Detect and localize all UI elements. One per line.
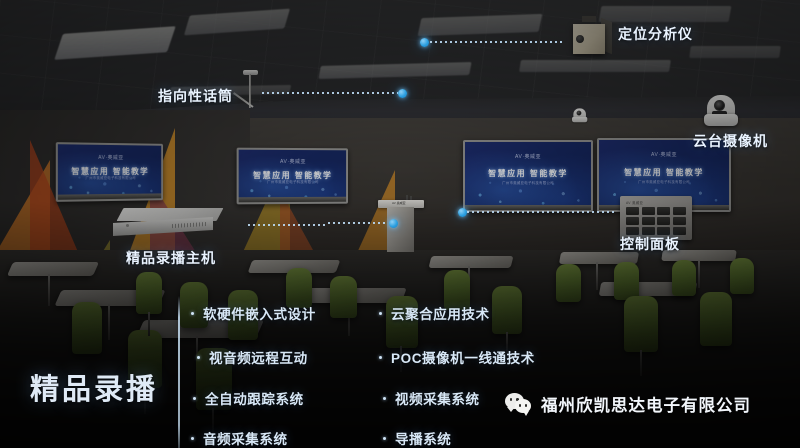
page-title: 精品录播 [30,366,158,408]
bullet-point-icon [191,437,194,440]
bullet-point-icon [379,312,382,315]
list-item: 视频采集系统 [383,388,480,408]
bullet-point-icon [191,312,194,315]
list-item-label: 全自动跟踪系统 [205,388,304,408]
list-item-label: 视频采集系统 [395,388,480,408]
list-item: 云聚合应用技术 [379,303,490,323]
list-item-label: 云聚合应用技术 [391,303,490,323]
callout-label-recorder-host: 精品录播主机 [126,248,216,268]
bullet-point-icon [383,437,386,440]
list-item: 全自动跟踪系统 [193,388,304,408]
callout-line-analyzer [430,41,563,43]
callout-label-ptz-camera: 云台摄像机 [693,131,768,151]
divider-vertical [178,296,180,448]
callout-dot-podium [389,219,398,228]
list-item: 视音频远程互动 [197,347,308,367]
callout-label-analyzer: 定位分析仪 [618,24,693,44]
company-name: 福州欣凯思达电子有限公司 [541,392,751,416]
list-item: POC摄像机一线通技术 [379,347,535,367]
callout-line-control-panel [467,211,614,213]
list-item: 音频采集系统 [191,428,288,448]
callout-label-microphone: 指向性话筒 [158,86,233,106]
bullet-point-icon [197,356,200,359]
callout-line-podium [328,222,388,224]
list-item: 软硬件嵌入式设计 [191,303,316,323]
list-item: 导播系统 [383,428,451,448]
list-item-label: POC摄像机一线通技术 [391,347,535,367]
callout-dot-microphone [398,89,407,98]
wechat-bubble-small [515,399,531,413]
callout-dot-analyzer [420,38,429,47]
bullet-point-icon [383,397,386,400]
callout-label-control-panel: 控制面板 [620,234,680,254]
wechat-eye [525,404,528,407]
callout-line-recorder [248,224,326,226]
bullet-point-icon [379,356,382,359]
wechat-icon [505,393,532,415]
list-item-label: 音频采集系统 [203,428,288,448]
list-item-label: 软硬件嵌入式设计 [203,303,316,323]
list-item-label: 视音频远程互动 [209,347,308,367]
footer: 福州欣凯思达电子有限公司 [505,392,751,416]
wechat-eye [519,404,522,407]
list-item-label: 导播系统 [395,428,451,448]
presentation-slide: AV·奥威亚 智慧应用 智能教学 广州市奥威亚电子科技有限公司 AV·奥威亚 智… [0,0,800,448]
wechat-eye [510,398,513,401]
callout-line-microphone [262,92,398,94]
bullet-point-icon [193,397,196,400]
callout-dot-control-panel [458,208,467,217]
